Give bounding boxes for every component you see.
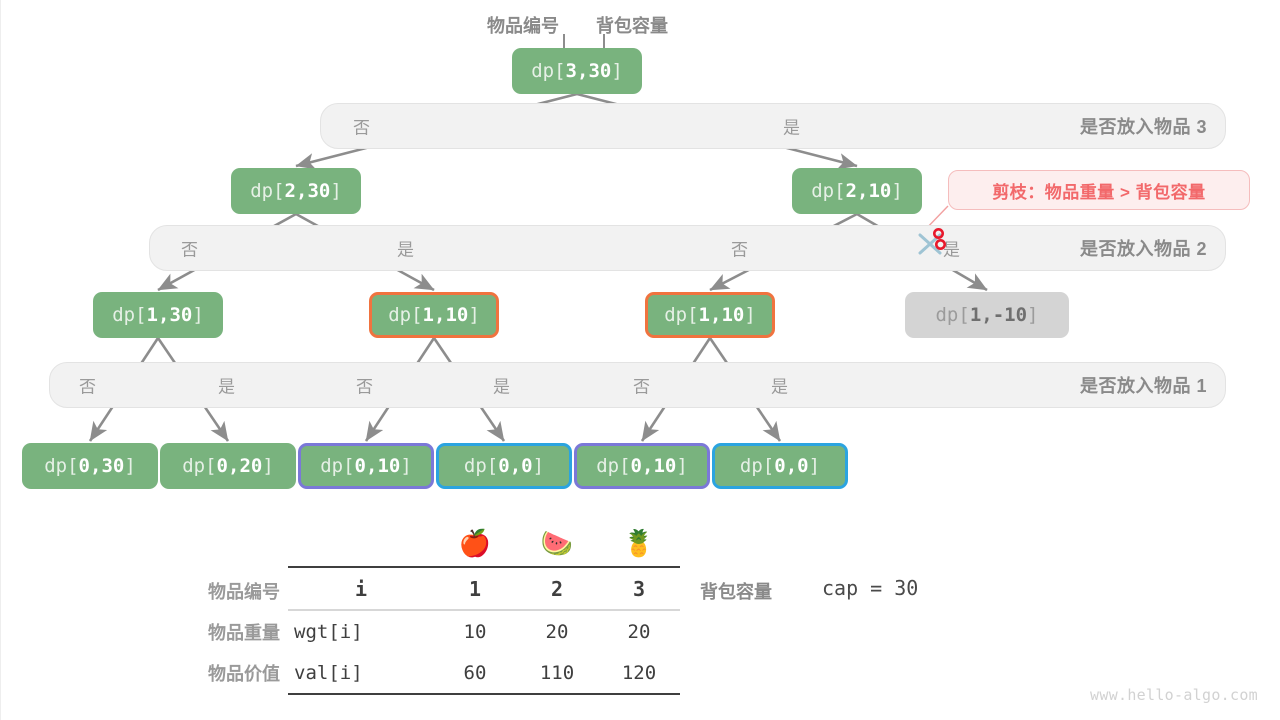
table-row-label: val[i] xyxy=(288,652,434,694)
table-cell: 20 xyxy=(598,610,680,652)
node-capacity: 30 xyxy=(169,304,192,326)
node-suffix: ] xyxy=(262,455,273,477)
table-row-head-label: 物品编号 xyxy=(208,578,280,604)
scissors-icon xyxy=(914,228,948,262)
node-suffix: ] xyxy=(744,304,755,326)
table-row: val[i]60110120 xyxy=(288,652,680,694)
node-item-index: 1 xyxy=(699,304,710,326)
decision-band-item-3: 否是是否放入物品 3 xyxy=(320,103,1226,149)
fruit-icon: 🍎 xyxy=(434,522,516,567)
table-row-head-label: 物品价值 xyxy=(208,660,280,686)
diagram-canvas: 物品编号背包容量 否是是否放入物品 3否是否是是否放入物品 2否是否是否是是否放… xyxy=(0,0,1280,720)
capacity-label: 背包容量 xyxy=(700,578,772,604)
branch-label: 是 xyxy=(783,114,800,139)
node-prefix: dp[ xyxy=(464,455,498,477)
table-row-label: wgt[i] xyxy=(288,610,434,652)
node-item-index: 1 xyxy=(970,304,981,326)
prune-callout: 剪枝：物品重量 > 背包容量 xyxy=(948,170,1250,210)
node-separator: , xyxy=(577,60,588,82)
branch-label: 是 xyxy=(493,373,510,398)
node-suffix: ] xyxy=(1027,304,1038,326)
node-separator: , xyxy=(710,304,721,326)
node-suffix: ] xyxy=(533,455,544,477)
node-separator: , xyxy=(642,455,653,477)
node-capacity: 0 xyxy=(797,455,808,477)
node-separator: , xyxy=(366,455,377,477)
fruit-icon: 🍉 xyxy=(516,522,598,567)
node-dp-2-10: dp[2,10] xyxy=(792,168,922,214)
node-capacity: 10 xyxy=(653,455,676,477)
top-pointer-label-2: 背包容量 xyxy=(596,12,668,38)
table-cell: 110 xyxy=(516,652,598,694)
node-prefix: dp[ xyxy=(388,304,422,326)
node-capacity: 0 xyxy=(521,455,532,477)
node-dp-3-30: dp[3,30] xyxy=(512,48,642,94)
node-separator: , xyxy=(857,180,868,202)
table-row: wgt[i]102020 xyxy=(288,610,680,652)
capacity-value: cap = 30 xyxy=(822,576,918,600)
node-capacity: 20 xyxy=(239,455,262,477)
node-separator: , xyxy=(296,180,307,202)
node-prefix: dp[ xyxy=(811,180,845,202)
node-item-index: 1 xyxy=(147,304,158,326)
node-item-index: 0 xyxy=(774,455,785,477)
decision-band-item-1: 否是否是否是是否放入物品 1 xyxy=(49,362,1226,408)
branch-label: 否 xyxy=(353,114,370,139)
node-suffix: ] xyxy=(192,304,203,326)
table-cell: 20 xyxy=(516,610,598,652)
branch-label: 否 xyxy=(356,373,373,398)
table-header-row: i123 xyxy=(288,567,680,610)
node-dp-1-neg10-pruned: dp[1,-10] xyxy=(905,292,1069,338)
node-dp-0-0-left: dp[0,0] xyxy=(436,443,572,489)
node-prefix: dp[ xyxy=(112,304,146,326)
node-dp-0-30: dp[0,30] xyxy=(22,443,158,489)
node-item-index: 0 xyxy=(498,455,509,477)
node-suffix: ] xyxy=(330,180,341,202)
fruit-icon: 🍍 xyxy=(598,522,680,567)
branch-label: 否 xyxy=(181,236,198,261)
table-header-cell: 2 xyxy=(516,567,598,610)
decision-band-item-3-title: 是否放入物品 3 xyxy=(1080,113,1207,139)
node-dp-0-0-right: dp[0,0] xyxy=(712,443,848,489)
table-header-cell: 1 xyxy=(434,567,516,610)
node-capacity: 10 xyxy=(377,455,400,477)
node-capacity: 10 xyxy=(868,180,891,202)
node-prefix: dp[ xyxy=(44,455,78,477)
node-suffix: ] xyxy=(676,455,687,477)
node-suffix: ] xyxy=(124,455,135,477)
node-dp-0-10-right: dp[0,10] xyxy=(574,443,710,489)
node-dp-1-30: dp[1,30] xyxy=(93,292,223,338)
node-dp-1-10-right: dp[1,10] xyxy=(645,292,775,338)
decision-band-item-2-title: 是否放入物品 2 xyxy=(1080,235,1207,261)
decision-band-item-2: 否是否是是否放入物品 2 xyxy=(149,225,1226,271)
node-prefix: dp[ xyxy=(250,180,284,202)
node-prefix: dp[ xyxy=(182,455,216,477)
node-dp-0-20: dp[0,20] xyxy=(160,443,296,489)
node-item-index: 0 xyxy=(217,455,228,477)
node-prefix: dp[ xyxy=(596,455,630,477)
node-prefix: dp[ xyxy=(935,304,969,326)
items-table: 🍎🍉🍍i123wgt[i]102020val[i]60110120 xyxy=(288,522,680,695)
watermark: www.hello-algo.com xyxy=(1090,686,1258,704)
node-prefix: dp[ xyxy=(664,304,698,326)
table-fruit-row: 🍎🍉🍍 xyxy=(288,522,680,567)
branch-label: 否 xyxy=(633,373,650,398)
node-item-index: 0 xyxy=(79,455,90,477)
node-capacity: -10 xyxy=(993,304,1027,326)
node-separator: , xyxy=(510,455,521,477)
node-suffix: ] xyxy=(809,455,820,477)
node-suffix: ] xyxy=(611,60,622,82)
node-capacity: 10 xyxy=(721,304,744,326)
top-pointer-label-1: 物品编号 xyxy=(487,12,559,38)
node-prefix: dp[ xyxy=(320,455,354,477)
node-suffix: ] xyxy=(400,455,411,477)
branch-label: 是 xyxy=(397,236,414,261)
node-item-index: 0 xyxy=(631,455,642,477)
node-separator: , xyxy=(90,455,101,477)
node-item-index: 0 xyxy=(355,455,366,477)
node-capacity: 30 xyxy=(101,455,124,477)
prune-callout-text: 剪枝：物品重量 > 背包容量 xyxy=(992,178,1205,203)
node-separator: , xyxy=(158,304,169,326)
node-prefix: dp[ xyxy=(740,455,774,477)
node-separator: , xyxy=(434,304,445,326)
node-suffix: ] xyxy=(891,180,902,202)
branch-label: 是 xyxy=(771,373,788,398)
branch-label: 否 xyxy=(79,373,96,398)
node-item-index: 2 xyxy=(285,180,296,202)
node-prefix: dp[ xyxy=(531,60,565,82)
node-dp-2-30: dp[2,30] xyxy=(231,168,361,214)
items-table-wrap: 🍎🍉🍍i123wgt[i]102020val[i]60110120 xyxy=(288,522,680,695)
fruit-row-spacer xyxy=(288,522,434,567)
node-item-index: 1 xyxy=(423,304,434,326)
node-separator: , xyxy=(786,455,797,477)
table-row-head-label: 物品重量 xyxy=(208,619,280,645)
node-dp-1-10-left: dp[1,10] xyxy=(369,292,499,338)
node-separator: , xyxy=(981,304,992,326)
node-item-index: 2 xyxy=(846,180,857,202)
node-capacity: 10 xyxy=(445,304,468,326)
node-suffix: ] xyxy=(468,304,479,326)
branch-label: 是 xyxy=(218,373,235,398)
node-capacity: 30 xyxy=(307,180,330,202)
table-cell: 120 xyxy=(598,652,680,694)
node-dp-0-10-left: dp[0,10] xyxy=(298,443,434,489)
branch-label: 否 xyxy=(731,236,748,261)
node-capacity: 30 xyxy=(588,60,611,82)
node-item-index: 3 xyxy=(566,60,577,82)
table-header-cell: 3 xyxy=(598,567,680,610)
table-cell: 60 xyxy=(434,652,516,694)
node-separator: , xyxy=(228,455,239,477)
table-cell: 10 xyxy=(434,610,516,652)
table-header-index-label: i xyxy=(288,567,434,610)
decision-band-item-1-title: 是否放入物品 1 xyxy=(1080,372,1207,398)
